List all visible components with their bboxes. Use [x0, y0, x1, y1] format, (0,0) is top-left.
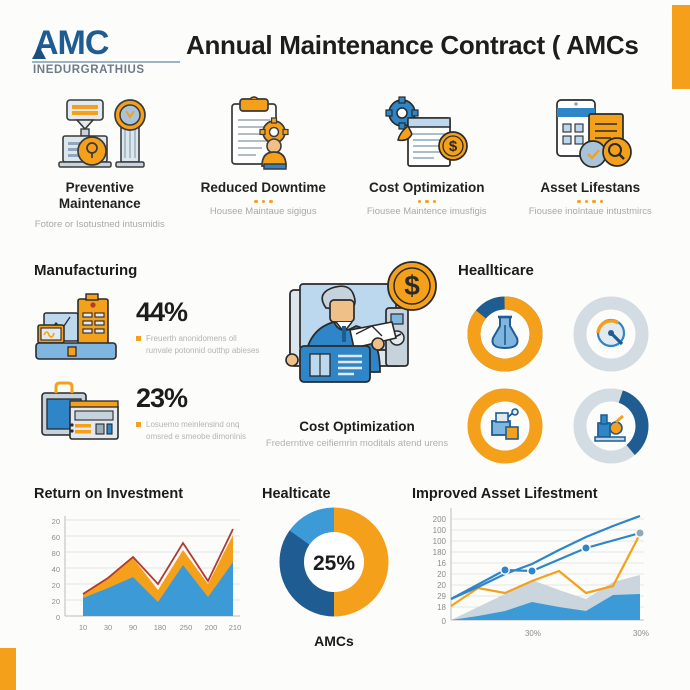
- x-tick: 90: [129, 623, 137, 632]
- healthcare-block: Heallticare: [458, 262, 658, 469]
- y-tick: 20: [52, 597, 60, 606]
- stat-value: 23%: [136, 385, 264, 412]
- manufacturing-heading: Manufacturing: [34, 262, 264, 279]
- data-point: [528, 567, 536, 575]
- donut-item-printer[interactable]: [458, 383, 552, 469]
- clipboard-gear-person-icon: [182, 96, 346, 170]
- data-point: [501, 566, 509, 574]
- x-tick: 10: [79, 623, 87, 632]
- y-tick: 20: [437, 570, 446, 579]
- healthcare-donut-grid: [458, 291, 658, 469]
- y-tick: 60: [52, 533, 60, 542]
- feature-dots: [182, 200, 346, 204]
- tablet-report-search-icon: [509, 96, 673, 170]
- stat-body: 23% Losuemo meinlensind onq omsred e sme…: [136, 383, 264, 443]
- svg-text:$: $: [449, 138, 458, 155]
- donut-center-label: 25%: [313, 552, 355, 575]
- feature-title: Preventive Maintenance: [18, 180, 182, 212]
- y-axis-ticks: 20 60 80 40 20 20 0: [52, 517, 60, 622]
- infographic-canvas: AMC INEDURGRATHIUS Annual Maintenance Co…: [0, 0, 690, 690]
- feature-card-preventive-maintenance[interactable]: Preventive Maintenance Fotore or Isotust…: [18, 96, 182, 246]
- y-tick: 0: [442, 617, 447, 626]
- feature-title: Asset Lifestans: [509, 180, 673, 196]
- donut-footer-label: AMCs: [258, 633, 410, 649]
- y-tick: 80: [52, 549, 60, 558]
- engineer-dollar-screen-icon: $: [264, 260, 450, 415]
- y-tick: 180: [433, 548, 447, 557]
- chart-title: Return on Investment: [34, 486, 266, 502]
- cost-optimization-block: $ Cost Optimization Frederntive ceifiemr…: [264, 260, 450, 450]
- y-tick: 40: [52, 565, 60, 574]
- stat-body: 44% Freuerth anonidomens oll runvale pot…: [136, 297, 264, 357]
- y-tick: 20: [52, 581, 60, 590]
- x-axis-ticks: 30% 30%: [525, 629, 649, 638]
- y-tick: 100: [433, 537, 447, 546]
- y-tick: 0: [56, 613, 60, 622]
- x-tick: 180: [154, 623, 167, 632]
- logo: AMC INEDURGRATHIUS: [30, 26, 190, 76]
- feature-card-cost-optimization[interactable]: $ Cost Optimization Fiousee Maintence im…: [345, 96, 509, 246]
- mid-section: Manufacturing: [0, 262, 690, 477]
- y-tick: 29: [437, 592, 446, 601]
- x-tick: 200: [205, 623, 218, 632]
- vial-icon: [493, 317, 518, 348]
- chart-healticate-donut: Healticate 25% AMCs: [258, 486, 410, 649]
- stat-description: Losuemo meinlensind onq omsred e smeobe …: [146, 419, 264, 443]
- y-tick: 20: [437, 581, 446, 590]
- healthcare-heading: Heallticare: [458, 262, 658, 279]
- y-tick: 200: [433, 515, 447, 524]
- bottom-charts: Return on Investment 20 60 80 40 20 20 0: [0, 486, 690, 690]
- header: AMC INEDURGRATHIUS Annual Maintenance Co…: [0, 22, 690, 88]
- y-tick: 20: [52, 517, 60, 526]
- stat-line: Losuemo meinlensind onq omsred e smeobe …: [136, 419, 264, 443]
- feature-title: Reduced Downtime: [182, 180, 346, 196]
- feature-description: Fotore or Isotustned intusmidis: [18, 219, 182, 232]
- stat-line: Freuerth anonidomens oll runvale potonni…: [136, 333, 264, 357]
- cost-optimization-description: Frederntive ceifiemrin moditals atend ur…: [264, 437, 450, 450]
- feature-card-reduced-downtime[interactable]: Reduced Downtime Housee Maintaue sigigus: [182, 96, 346, 246]
- healticate-donut[interactable]: 25%: [269, 502, 399, 624]
- x-axis-ticks: 10 30 90 180 250 200 210: [79, 623, 241, 632]
- toolbox-panel-icon: [34, 377, 130, 449]
- industrial-scale-icon: [18, 96, 182, 170]
- chart-title: Improved Asset Lifestment: [412, 486, 662, 502]
- stat-value: 44%: [136, 299, 264, 326]
- machine-icon: [595, 415, 625, 441]
- chart-title: Healticate: [258, 486, 410, 502]
- chart-return-on-investment: Return on Investment 20 60 80 40 20 20 0: [34, 486, 266, 657]
- feature-card-asset-lifespan[interactable]: Asset Lifestans Fiousee inolntaue intust…: [509, 96, 673, 246]
- feature-description: Fiousee Maintence imusfigis: [345, 206, 509, 219]
- asset-lifestment-line-chart[interactable]: 200 100 100 180 16 20 20 29 18 0: [412, 502, 662, 652]
- printer-doc-icon: [492, 409, 518, 439]
- feature-title: Cost Optimization: [345, 180, 509, 196]
- cost-optimization-title: Cost Optimization: [264, 419, 450, 434]
- x-tick: 30%: [633, 629, 649, 638]
- logo-triangle-icon: [32, 46, 46, 59]
- feature-dots: [509, 200, 673, 204]
- donut-item-machine[interactable]: [564, 383, 658, 469]
- svg-text:$: $: [404, 270, 420, 301]
- x-tick: 30%: [525, 629, 541, 638]
- donut-item-gauge[interactable]: [564, 291, 658, 377]
- page-title: Annual Maintenance Contract ( AMCs: [186, 30, 639, 61]
- x-tick: 210: [229, 623, 242, 632]
- feature-dots: [345, 200, 509, 204]
- x-tick: 30: [104, 623, 112, 632]
- stat-description: Freuerth anonidomens oll runvale potonni…: [146, 333, 264, 357]
- factory-equipment-icon: [34, 291, 130, 363]
- x-tick: 250: [180, 623, 193, 632]
- data-point: [636, 529, 644, 537]
- feature-row: Preventive Maintenance Fotore or Isotust…: [18, 96, 672, 246]
- y-axis-ticks: 200 100 100 180 16 20 20 29 18 0: [433, 515, 447, 626]
- donut-item-vial[interactable]: [458, 291, 552, 377]
- document-gear-dollar-icon: $: [345, 96, 509, 170]
- logo-subtitle: INEDURGRATHIUS: [30, 64, 190, 76]
- bullet-square-icon: [136, 422, 141, 427]
- chart-improved-asset-lifestment: Improved Asset Lifestment 200 100 100 18…: [412, 486, 662, 657]
- stat-row: 23% Losuemo meinlensind onq omsred e sme…: [34, 377, 264, 449]
- data-point: [582, 544, 590, 552]
- bullet-square-icon: [136, 336, 141, 341]
- feature-description: Housee Maintaue sigigus: [182, 206, 346, 219]
- y-tick: 18: [437, 603, 446, 612]
- roi-area-chart[interactable]: 20 60 80 40 20 20 0: [34, 502, 266, 652]
- manufacturing-block: Manufacturing: [34, 262, 264, 463]
- feature-description: Fiousee inolntaue intustmircs: [509, 206, 673, 219]
- logo-wordmark: AMC: [30, 26, 190, 60]
- y-tick: 100: [433, 526, 447, 535]
- stat-row: 44% Freuerth anonidomens oll runvale pot…: [34, 291, 264, 363]
- gauge-icon: [598, 320, 624, 346]
- y-tick: 16: [437, 559, 446, 568]
